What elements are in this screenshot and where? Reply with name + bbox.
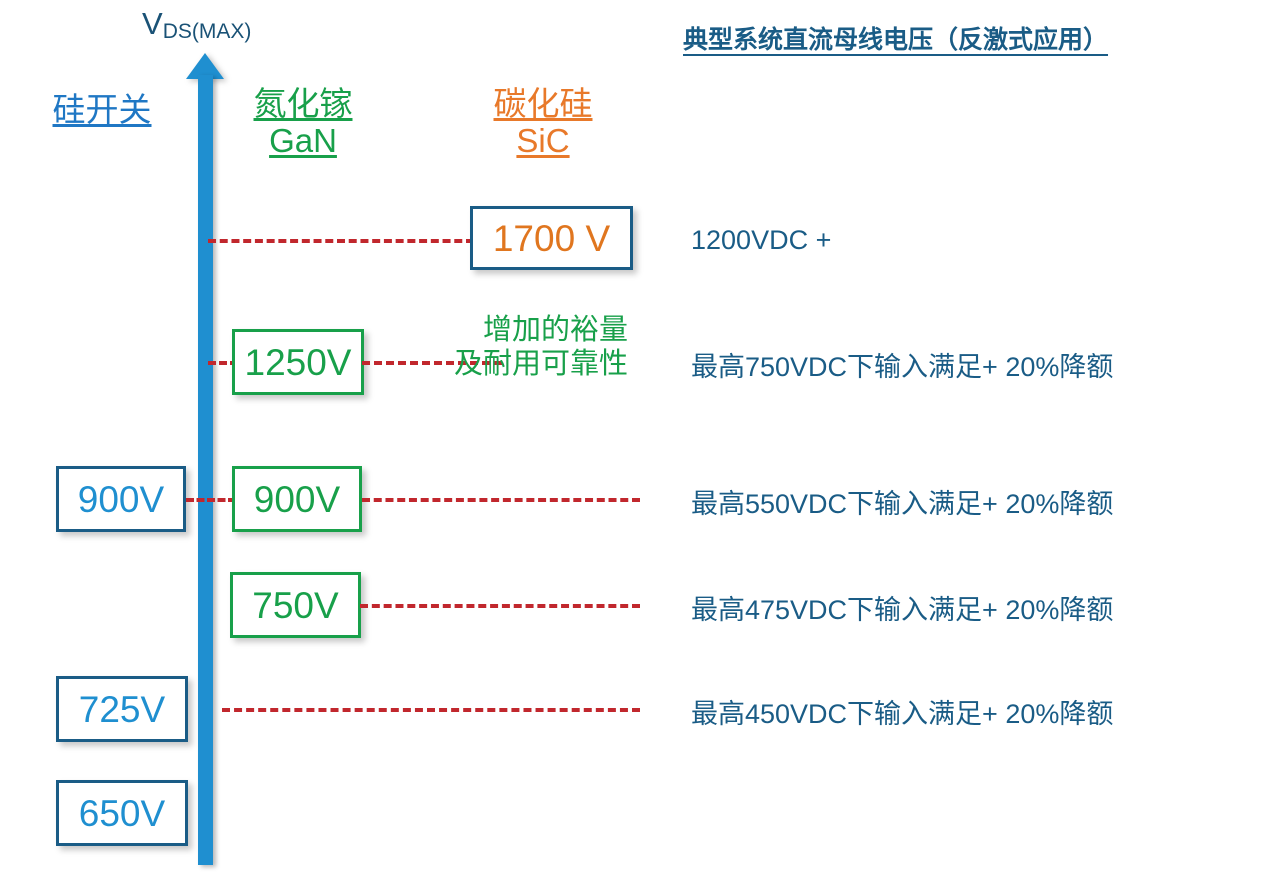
column-header-sic-label: 碳化硅 bbox=[494, 85, 593, 122]
voltage-box-silicon-900: 900V bbox=[56, 466, 186, 532]
annotation-line-1: 增加的裕量 bbox=[483, 314, 628, 346]
voltage-box-silicon-900-label: 900V bbox=[78, 481, 164, 518]
voltage-box-sic-1700: 1700 V bbox=[470, 206, 633, 270]
description-450vdc: 最高450VDC下输入满足+ 20%降额 bbox=[691, 692, 1113, 731]
voltage-box-silicon-650-label: 650V bbox=[79, 795, 165, 832]
voltage-box-gan-750: 750V bbox=[230, 572, 361, 638]
axis-label: VDS(MAX) bbox=[142, 6, 251, 42]
description-475vdc: 最高475VDC下输入满足+ 20%降额 bbox=[691, 588, 1113, 627]
dashed-line-900-left bbox=[186, 498, 236, 502]
voltage-box-gan-900: 900V bbox=[232, 466, 362, 532]
diagram-canvas: VDS(MAX) 硅开关 氮化镓 GaN 碳化硅 SiC 典型系统直流母线电压（… bbox=[0, 0, 1279, 885]
annotation-margin-reliability: 增加的裕量 及耐用可靠性 bbox=[420, 313, 628, 381]
column-header-gan-label: 氮化镓 bbox=[254, 85, 353, 122]
axis-label-subscript: DS(MAX) bbox=[163, 20, 252, 43]
column-header-silicon-label: 硅开关 bbox=[53, 91, 152, 128]
voltage-box-sic-1700-label: 1700 V bbox=[493, 220, 610, 257]
axis-label-main: V bbox=[142, 6, 163, 41]
description-1200vdc: 1200VDC + bbox=[691, 225, 831, 256]
dashed-line-725 bbox=[222, 708, 640, 712]
voltage-box-silicon-650: 650V bbox=[56, 780, 188, 846]
vertical-axis bbox=[198, 75, 213, 865]
column-header-sic-abbrev: SiC bbox=[468, 123, 618, 160]
annotation-line-2: 及耐用可靠性 bbox=[420, 347, 628, 381]
column-header-sic: 碳化硅 SiC bbox=[468, 86, 618, 160]
dashed-line-1700 bbox=[208, 239, 474, 243]
right-panel-title: 典型系统直流母线电压（反激式应用） bbox=[683, 20, 1108, 56]
description-550vdc: 最高550VDC下输入满足+ 20%降额 bbox=[691, 482, 1113, 521]
column-header-gan: 氮化镓 GaN bbox=[228, 86, 378, 160]
voltage-box-silicon-725: 725V bbox=[56, 676, 188, 742]
description-750vdc: 最高750VDC下输入满足+ 20%降额 bbox=[691, 345, 1113, 384]
dashed-line-900-right bbox=[362, 498, 640, 502]
column-header-silicon: 硅开关 bbox=[18, 92, 186, 129]
voltage-box-silicon-725-label: 725V bbox=[79, 691, 165, 728]
voltage-box-gan-900-label: 900V bbox=[254, 481, 340, 518]
voltage-box-gan-1250-label: 1250V bbox=[245, 344, 352, 381]
dashed-line-750 bbox=[360, 604, 640, 608]
column-header-gan-abbrev: GaN bbox=[228, 123, 378, 160]
voltage-box-gan-750-label: 750V bbox=[252, 587, 338, 624]
voltage-box-gan-1250: 1250V bbox=[232, 329, 364, 395]
